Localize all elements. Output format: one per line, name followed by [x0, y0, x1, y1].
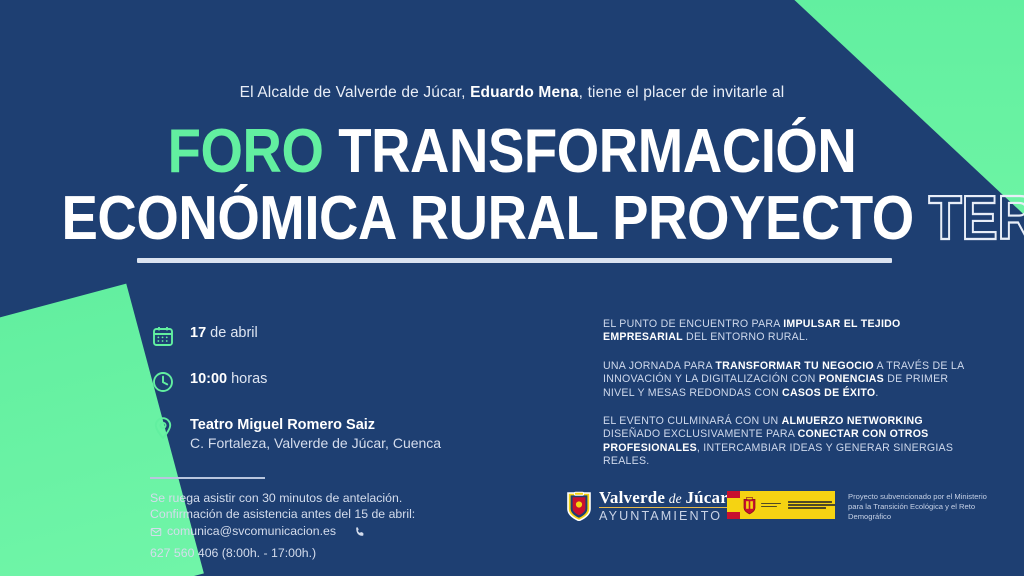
title-word-terval: TERVAL — [929, 184, 1024, 253]
detail-time-strong: 10:00 — [190, 371, 227, 387]
kicker-text-before: El Alcalde de Valverde de Júcar, — [240, 84, 470, 101]
title-phrase-economica-rural: ECONÓMICA RURAL PROYECTO — [61, 184, 913, 253]
spain-flag-icon — [727, 491, 740, 519]
coat-of-arms-icon — [566, 490, 592, 521]
government-of-spain-logo — [727, 491, 835, 519]
detail-date-rest: de abril — [206, 325, 258, 341]
page-title: FORO TRANSFORMACIÓN ECONÓMICA RURAL PROY… — [0, 118, 1024, 252]
poster-canvas: El Alcalde de Valverde de Júcar, Eduardo… — [0, 0, 1024, 576]
invitation-kicker: El Alcalde de Valverde de Júcar, Eduardo… — [0, 84, 1024, 102]
spain-coat-of-arms-icon — [742, 496, 757, 515]
kicker-text-after: , tiene el placer de invitarle al — [579, 84, 785, 101]
detail-text-location: Teatro Miguel Romero Saiz C. Fortaleza, … — [190, 414, 441, 452]
title-divider — [137, 258, 892, 263]
description-paragraphs: EL PUNTO DE ENCUENTRO PARA IMPULSAR EL T… — [603, 318, 965, 484]
footer-contact-row: comunica@svcomunicacion.es 627 560 406 (… — [150, 523, 530, 560]
title-word-transformacion: TRANSFORMACIÓN — [338, 117, 856, 186]
mayor-name: Eduardo Mena — [470, 84, 579, 101]
town-name-part2: Júcar — [685, 488, 728, 507]
paragraph-2: UNA JORNADA PARA TRANSFORMAR TU NEGOCIO … — [603, 360, 965, 400]
emphasis-text: CASOS DE ÉXITO — [782, 387, 875, 399]
event-details: 17 de abril 10:00 horas Te — [150, 322, 510, 471]
town-subtitle: AYUNTAMIENTO — [599, 510, 728, 523]
emphasis-text: ALMUERZO NETWORKING — [782, 415, 923, 427]
title-line-2: ECONÓMICA RURAL PROYECTO TERVAL — [61, 185, 962, 252]
phone-icon — [354, 526, 366, 538]
detail-row-date: 17 de abril — [150, 322, 510, 349]
title-line-1: FORO TRANSFORMACIÓN — [61, 118, 962, 185]
body-text: DEL ENTORNO RURAL. — [683, 331, 808, 343]
paragraph-3: EL EVENTO CULMINARÁ CON UN ALMUERZO NETW… — [603, 415, 965, 469]
detail-time-rest: horas — [227, 371, 267, 387]
footer-note-line1: Se ruega asistir con 30 minutos de antel… — [150, 490, 530, 506]
body-text: UNA JORNADA PARA — [603, 360, 715, 372]
subsidy-note: Proyecto subvencionado por el Ministerio… — [848, 492, 1016, 523]
detail-date-strong: 17 — [190, 325, 206, 341]
government-wordmark — [761, 501, 835, 509]
town-name: Valverde de Júcar — [599, 489, 728, 508]
emphasis-text: PONENCIAS — [819, 373, 884, 385]
subsidy-note-line1: Proyecto subvencionado por el Ministerio — [848, 492, 1016, 502]
footer-note-line2: Confirmación de asistencia antes del 15 … — [150, 506, 530, 522]
body-text: . — [875, 387, 878, 399]
calendar-icon — [150, 323, 176, 349]
town-name-part1: Valverde — [599, 488, 665, 507]
title-word-foro: FORO — [168, 117, 324, 186]
clock-icon — [150, 369, 176, 395]
body-text: DISEÑADO EXCLUSIVAMENTE PARA — [603, 428, 798, 440]
town-name-connector: de — [665, 491, 685, 506]
subsidy-note-line2: para la Transición Ecológica y el Reto D… — [848, 502, 1016, 522]
footer-divider — [150, 477, 265, 479]
town-logo-text: Valverde de Júcar AYUNTAMIENTO — [599, 489, 728, 523]
location-pin-icon — [150, 415, 176, 441]
envelope-icon — [150, 526, 162, 538]
valverde-de-jucar-logo: Valverde de Júcar AYUNTAMIENTO — [566, 489, 728, 523]
venue-address: C. Fortaleza, Valverde de Júcar, Cuenca — [190, 435, 441, 452]
paragraph-1: EL PUNTO DE ENCUENTRO PARA IMPULSAR EL T… — [603, 318, 965, 345]
footer-notes: Se ruega asistir con 30 minutos de antel… — [150, 490, 530, 561]
emphasis-text: TRANSFORMAR TU NEGOCIO — [715, 360, 874, 372]
detail-text-time: 10:00 horas — [190, 368, 267, 388]
contact-phone[interactable]: 627 560 406 (8:00h. - 17:00h.) — [150, 545, 316, 561]
ministerio-text — [788, 501, 835, 509]
body-text: EL PUNTO DE ENCUENTRO PARA — [603, 318, 783, 330]
contact-email-link[interactable]: comunica@svcomunicacion.es — [167, 523, 336, 539]
body-text: EL EVENTO CULMINARÁ CON UN — [603, 415, 782, 427]
detail-text-date: 17 de abril — [190, 322, 258, 342]
venue-name: Teatro Miguel Romero Saiz — [190, 417, 375, 433]
detail-row-time: 10:00 horas — [150, 368, 510, 395]
gobierno-de-espana-text — [761, 503, 781, 508]
detail-row-location: Teatro Miguel Romero Saiz C. Fortaleza, … — [150, 414, 510, 452]
